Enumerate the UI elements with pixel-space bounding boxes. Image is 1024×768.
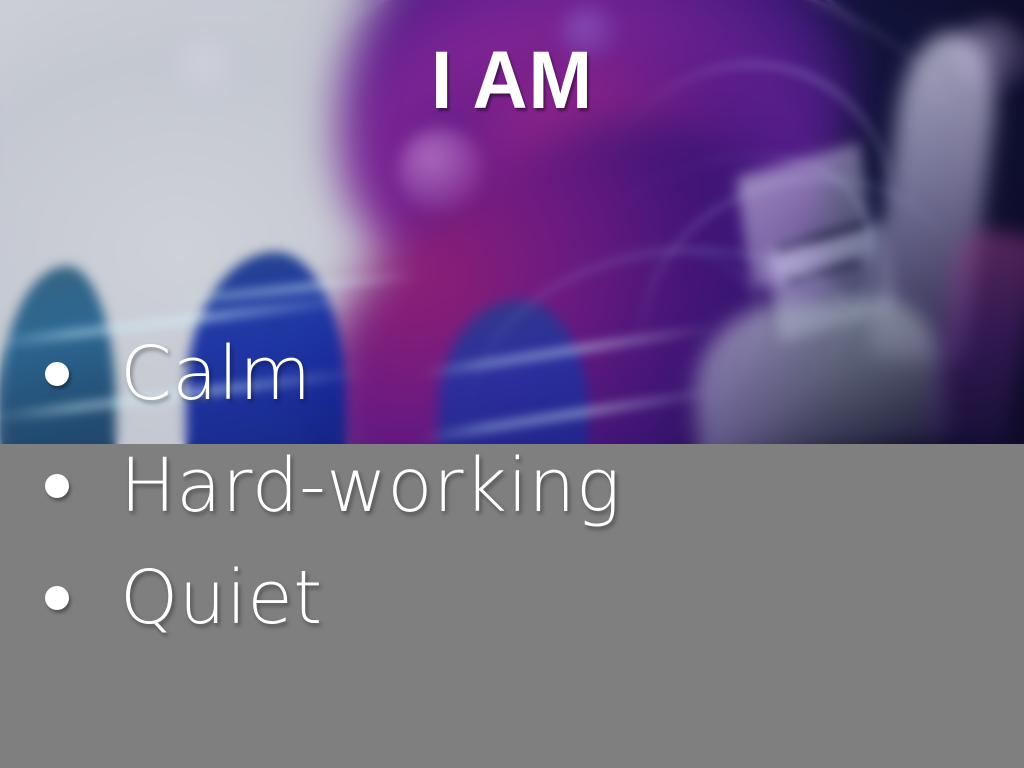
- background-bokeh-disc-2: [760, 238, 834, 312]
- list-item: Calm: [0, 318, 1024, 430]
- bullet-dot-icon: [45, 474, 69, 498]
- background-card-bar-1: [777, 219, 868, 253]
- list-item: Quiet: [0, 542, 1024, 654]
- bullet-list: Calm Hard-working Quiet: [0, 318, 1024, 654]
- background-card-bar-2: [786, 258, 859, 286]
- background-card-shape-1: [737, 142, 876, 289]
- slide-title: I AM: [36, 36, 988, 126]
- bullet-item-label: Calm: [120, 328, 312, 420]
- bullet-dot-icon: [45, 586, 69, 610]
- bullet-dot-icon: [45, 362, 69, 386]
- background-stripe-3: [170, 273, 419, 304]
- bullet-item-label: Quiet: [120, 552, 323, 644]
- slide: I AM Calm Hard-working Quiet: [0, 0, 1024, 768]
- bullet-item-label: Hard-working: [120, 440, 621, 532]
- list-item: Hard-working: [0, 430, 1024, 542]
- background-bokeh-disc-1: [398, 128, 484, 214]
